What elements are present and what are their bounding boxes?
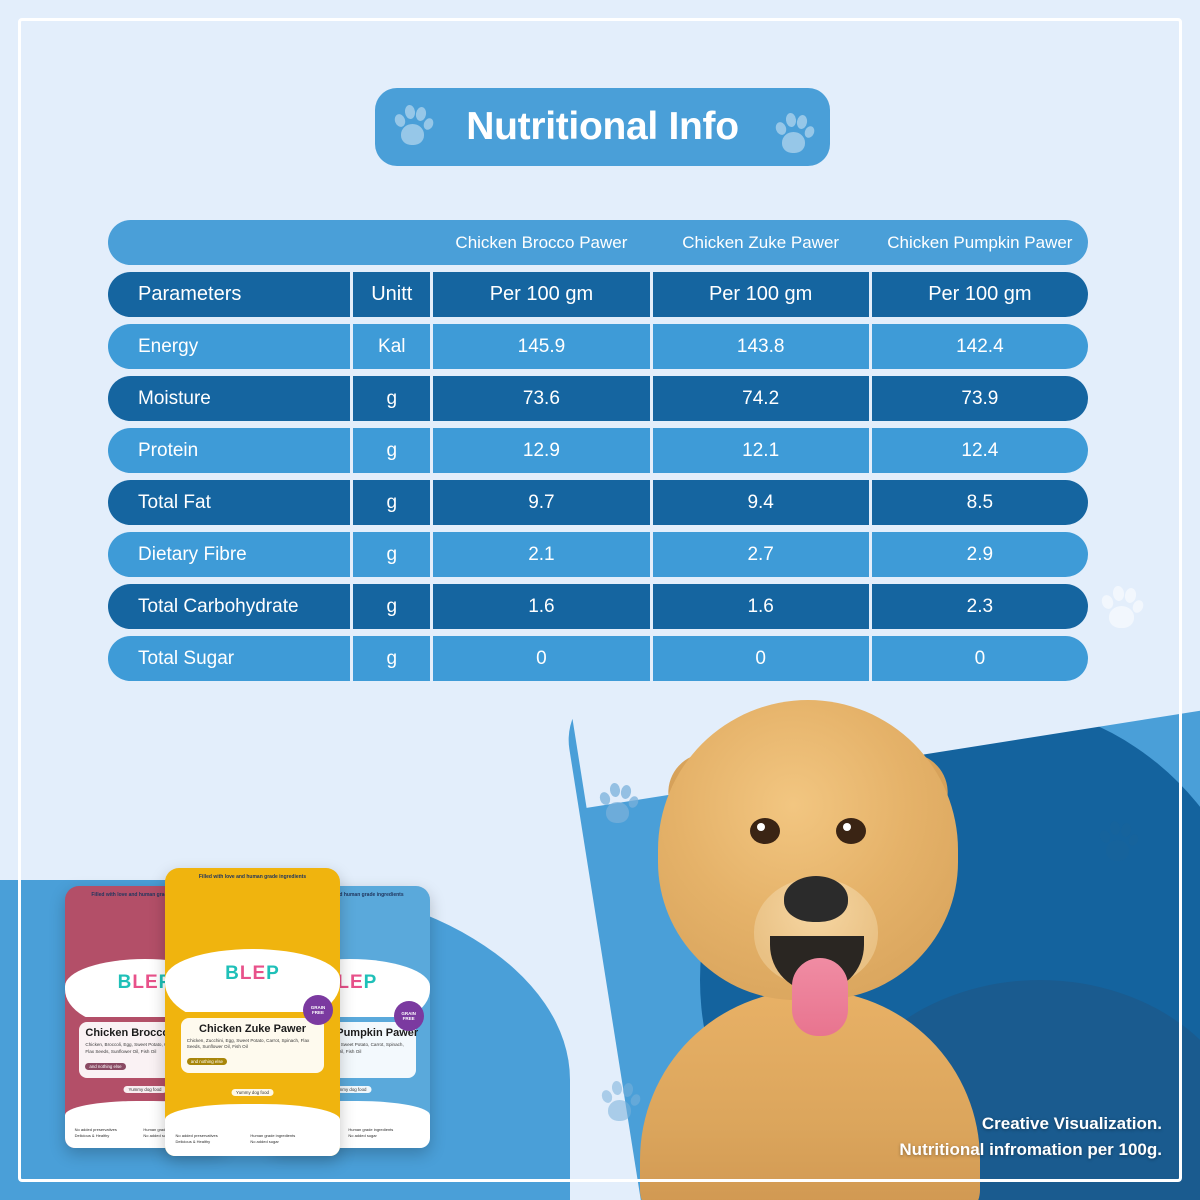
nutrition-table: Chicken Brocco Pawer Chicken Zuke Pawer … — [108, 220, 1088, 688]
product-pouches: Filled with love and human grade ingredi… — [55, 868, 455, 1158]
row-unit: g — [353, 428, 430, 473]
dog-tongue — [792, 958, 848, 1036]
row-value-zuke: 143.8 — [653, 324, 869, 369]
row-value-pumpkin: 73.9 — [872, 376, 1088, 421]
row-value-pumpkin: 2.9 — [872, 532, 1088, 577]
brand-logo: BLEP — [165, 963, 340, 985]
column-header-per100-2: Per 100 gm — [653, 272, 869, 317]
row-parameter: Total Carbohydrate — [108, 584, 350, 629]
dog-eye-right — [836, 818, 866, 844]
row-value-zuke: 74.2 — [653, 376, 869, 421]
column-header-per100-3: Per 100 gm — [872, 272, 1088, 317]
grain-free-badge: GRAINFREE — [394, 1001, 424, 1031]
row-parameter: Protein — [108, 428, 350, 473]
product-header-brocco: Chicken Brocco Pawer — [433, 220, 649, 265]
row-value-brocco: 145.9 — [433, 324, 649, 369]
row-value-brocco: 9.7 — [433, 480, 649, 525]
table-product-header-row: Chicken Brocco Pawer Chicken Zuke Pawer … — [108, 220, 1088, 265]
row-parameter: Total Sugar — [108, 636, 350, 681]
table-row: Total Carbohydrate g 1.6 1.6 2.3 — [108, 584, 1088, 629]
column-header-per100-1: Per 100 gm — [433, 272, 649, 317]
product-header-zuke: Chicken Zuke Pawer — [653, 220, 869, 265]
column-header-parameters: Parameters — [108, 272, 350, 317]
product-header-spacer — [108, 220, 350, 265]
row-value-zuke: 1.6 — [653, 584, 869, 629]
row-value-brocco: 2.1 — [433, 532, 649, 577]
row-value-brocco: 73.6 — [433, 376, 649, 421]
dog-eye-left — [750, 818, 780, 844]
grain-free-badge: GRAINFREE — [303, 995, 333, 1025]
product-header-spacer-unit — [353, 220, 430, 265]
paw-icon — [774, 112, 814, 154]
row-parameter: Dietary Fibre — [108, 532, 350, 577]
product-header-pumpkin: Chicken Pumpkin Pawer — [872, 220, 1088, 265]
row-value-brocco: 12.9 — [433, 428, 649, 473]
row-value-pumpkin: 2.3 — [872, 584, 1088, 629]
claim-item: Human grade ingredients — [348, 1127, 413, 1132]
tummy-tagline: Yummy dog food — [124, 1086, 167, 1093]
page-title: Nutritional Info — [466, 105, 739, 149]
row-value-pumpkin: 12.4 — [872, 428, 1088, 473]
claim-item: Human grade ingredients — [250, 1133, 321, 1138]
row-parameter: Energy — [108, 324, 350, 369]
dog-nose — [784, 876, 848, 922]
row-unit: Kal — [353, 324, 430, 369]
row-value-zuke: 12.1 — [653, 428, 869, 473]
row-value-zuke: 2.7 — [653, 532, 869, 577]
table-column-header-row: Parameters Unitt Per 100 gm Per 100 gm P… — [108, 272, 1088, 317]
nothing-else-badge: and nothing else — [187, 1058, 227, 1065]
table-row: Dietary Fibre g 2.1 2.7 2.9 — [108, 532, 1088, 577]
caption-line-1: Creative Visualization. — [899, 1111, 1162, 1137]
row-unit: g — [353, 376, 430, 421]
column-header-unit: Unitt — [353, 272, 430, 317]
claim-item: No added preservatives — [75, 1127, 140, 1132]
row-value-brocco: 1.6 — [433, 584, 649, 629]
poster-canvas: Nutritional Info Chicken Brocco Pawer Ch… — [0, 0, 1200, 1200]
row-unit: g — [353, 584, 430, 629]
row-unit: g — [353, 636, 430, 681]
pouch-white-foot — [165, 1104, 340, 1156]
paw-icon — [1100, 585, 1142, 629]
table-row: Total Sugar g 0 0 0 — [108, 636, 1088, 681]
product-ingredients: Chicken, Zucchini, Egg, Sweet Potato, Ca… — [187, 1038, 319, 1050]
table-row: Total Fat g 9.7 9.4 8.5 — [108, 480, 1088, 525]
row-parameter: Total Fat — [108, 480, 350, 525]
row-value-brocco: 0 — [433, 636, 649, 681]
pouch-label: Chicken Zuke Pawer Chicken, Zucchini, Eg… — [181, 1018, 325, 1073]
product-name: Chicken Zuke Pawer — [187, 1023, 319, 1035]
row-unit: g — [353, 480, 430, 525]
claim-item: No added sugar — [348, 1133, 413, 1138]
product-pouch-zuke[interactable]: Filled with love and human grade ingredi… — [165, 868, 340, 1156]
row-parameter: Moisture — [108, 376, 350, 421]
row-unit: g — [353, 532, 430, 577]
nothing-else-badge: and nothing else — [85, 1063, 125, 1070]
caption-line-2: Nutritional infromation per 100g. — [899, 1137, 1162, 1163]
claim-item: Delicious & Healthy — [75, 1133, 140, 1138]
row-value-pumpkin: 8.5 — [872, 480, 1088, 525]
footer-caption: Creative Visualization. Nutritional infr… — [899, 1111, 1162, 1162]
dog-head — [658, 700, 958, 1000]
table-row: Energy Kal 145.9 143.8 142.4 — [108, 324, 1088, 369]
page-title-banner: Nutritional Info — [375, 88, 830, 166]
table-row: Moisture g 73.6 74.2 73.9 — [108, 376, 1088, 421]
pouch-tagline: Filled with love and human grade ingredi… — [199, 875, 306, 881]
table-row: Protein g 12.9 12.1 12.4 — [108, 428, 1088, 473]
claim-item: No added sugar — [250, 1139, 321, 1144]
claim-item: No added preservatives — [176, 1133, 247, 1138]
row-value-pumpkin: 0 — [872, 636, 1088, 681]
paw-icon — [1098, 820, 1138, 862]
pouch-claims: No added preservatives Human grade ingre… — [176, 1133, 330, 1144]
paw-icon — [393, 104, 433, 146]
claim-item: Delicious & Healthy — [176, 1139, 247, 1144]
row-value-zuke: 9.4 — [653, 480, 869, 525]
tummy-tagline: Yummy dog food — [231, 1089, 274, 1096]
row-value-pumpkin: 142.4 — [872, 324, 1088, 369]
row-value-zuke: 0 — [653, 636, 869, 681]
